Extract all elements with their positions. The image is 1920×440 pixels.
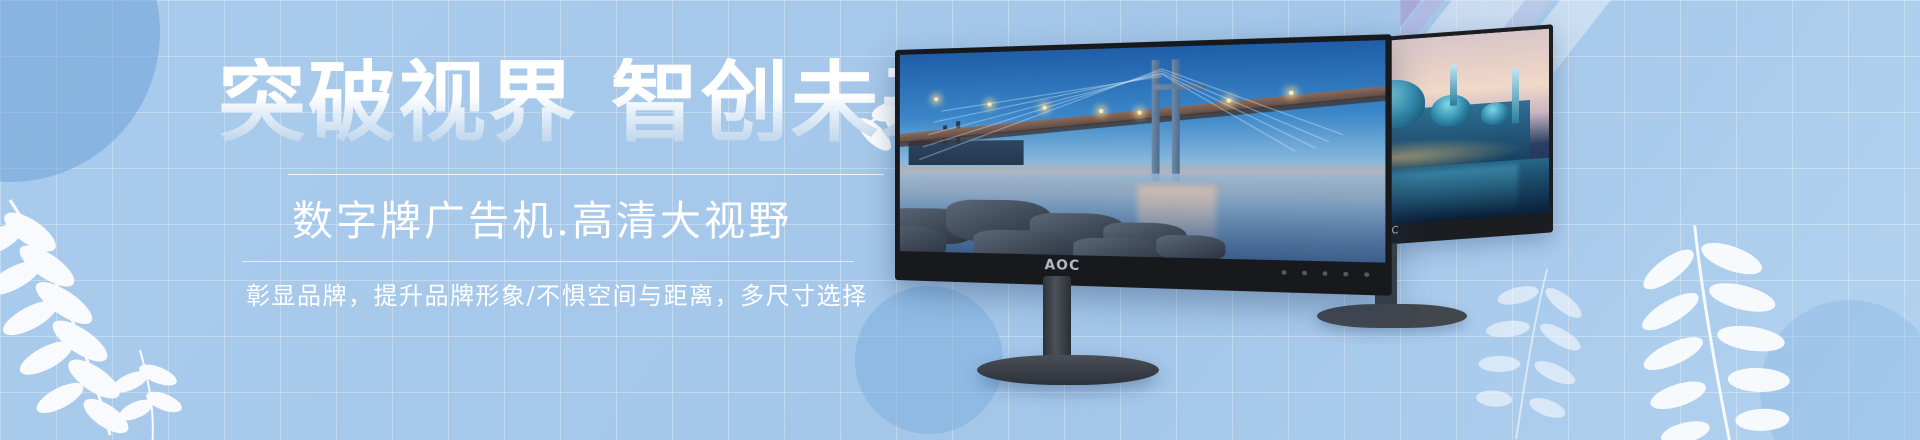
banner-text-block: 突破视界 智创未来 突破视界 智创未来 数字牌广告机.高清大视野 彰显品牌，提升… xyxy=(200,58,900,311)
headline-wrapper: 突破视界 智创未来 突破视界 智创未来 xyxy=(200,58,900,148)
divider-top xyxy=(288,174,884,175)
monitor-stand-neck xyxy=(1043,276,1071,362)
banner-headline: 突破视界 智创未来 xyxy=(200,58,900,148)
divider-bottom xyxy=(242,261,854,262)
monitor-bezel: AOC xyxy=(895,34,1392,296)
banner-tagline: 彰显品牌，提升品牌形象/不惧空间与距离，多尺寸选择 xyxy=(246,276,900,311)
product-monitor-front: AOC xyxy=(895,50,1365,400)
monitor-screen xyxy=(900,40,1386,263)
monitor-osd-buttons[interactable] xyxy=(1282,270,1370,277)
circle-decoration-top-left xyxy=(0,0,160,182)
rock-cluster xyxy=(900,192,1242,263)
monitor-stand-base xyxy=(977,355,1159,385)
brand-logo-front: AOC xyxy=(1045,258,1081,275)
banner-subtitle: 数字牌广告机.高清大视野 xyxy=(292,187,900,247)
promo-banner: 突破视界 智创未来 突破视界 智创未来 数字牌广告机.高清大视野 彰显品牌，提升… xyxy=(0,0,1920,440)
screen-image-bridge xyxy=(900,40,1386,263)
leaf-icon-bottom-right xyxy=(1590,215,1820,440)
